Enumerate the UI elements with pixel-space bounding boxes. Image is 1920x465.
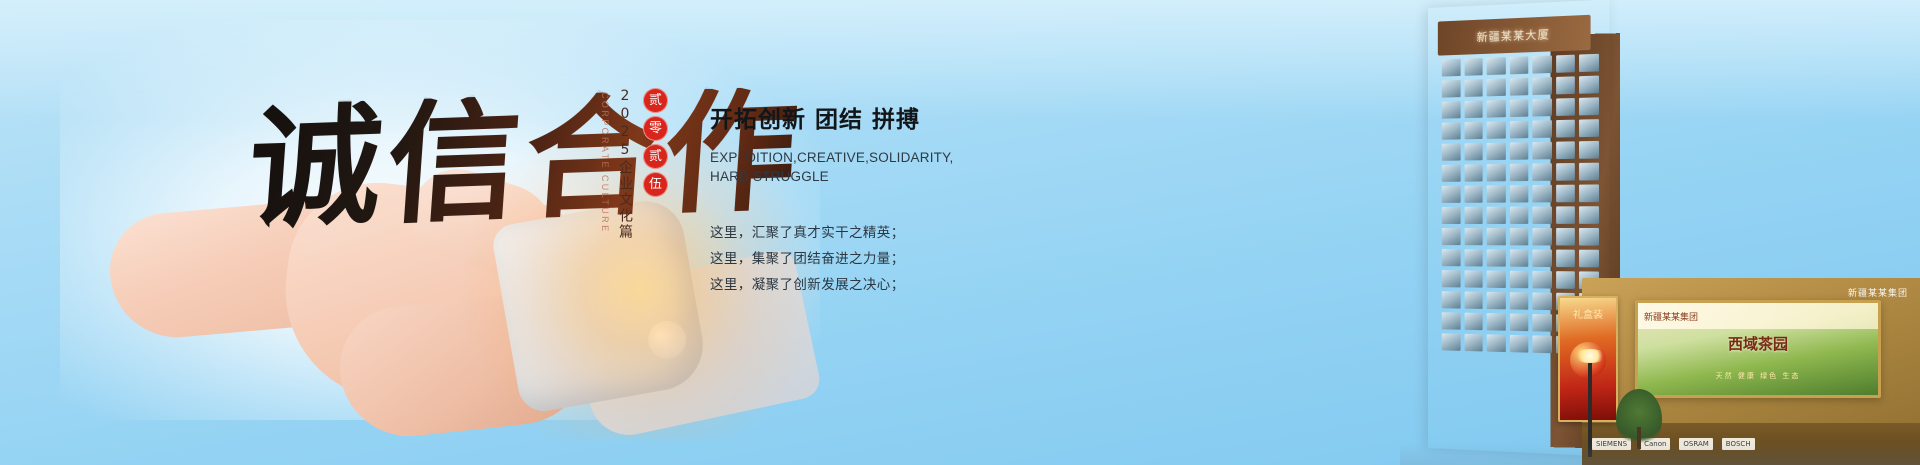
slogan-body: 这里，汇聚了真才实干之精英； 这里，集聚了团结奋进之力量； 这里，凝聚了创新发展… bbox=[710, 220, 1000, 298]
billboard-top-text: 新疆某某集团 bbox=[1638, 303, 1878, 329]
slogan-headline: 开拓创新 团结 拼搏 bbox=[710, 100, 1000, 134]
building-photo: 新疆某某大厦 新疆某某集团 SIEMENS bbox=[1400, 0, 1920, 465]
billboard-sub-text: 天然 健康 绿色 生态 bbox=[1638, 371, 1878, 381]
vertical-side-label: CORPORATE CULTURE 2025企业文化篇 贰 零 贰 伍 bbox=[600, 88, 668, 240]
tower-sign-text: 新疆某某大厦 bbox=[1438, 15, 1591, 56]
billboard-main-text: 西域茶园 bbox=[1638, 333, 1878, 354]
podium-logo-text: 新疆某某集团 bbox=[1848, 286, 1908, 299]
slogan-subline-2: HARD STRUGGLE bbox=[710, 167, 1000, 186]
seal-stack: 贰 零 贰 伍 bbox=[643, 88, 668, 197]
seal-char-3: 贰 bbox=[643, 144, 668, 169]
seal-char-4: 伍 bbox=[643, 172, 668, 197]
vertical-chinese-label: 2025企业文化篇 bbox=[615, 88, 635, 240]
seal-char-2: 零 bbox=[643, 116, 668, 141]
seal-char-1: 贰 bbox=[643, 88, 668, 113]
vertical-english-label: CORPORATE CULTURE bbox=[600, 88, 610, 233]
ground-shadow bbox=[1400, 443, 1920, 465]
slogan-body-line-3: 这里，凝聚了创新发展之决心； bbox=[710, 272, 1000, 298]
led-billboard: 新疆某某集团 西域茶园 天然 健康 绿色 生态 bbox=[1635, 300, 1881, 398]
poster-title: 礼盒装 bbox=[1560, 306, 1616, 321]
slogan-subline-1: EXPLOITION,CREATIVE,SOLIDARITY, bbox=[710, 148, 1000, 167]
slogan-body-line-2: 这里，集聚了团结奋进之力量； bbox=[710, 246, 1000, 272]
slogan-text-block: 开拓创新 团结 拼搏 EXPLOITION,CREATIVE,SOLIDARIT… bbox=[710, 100, 1000, 298]
street-tree bbox=[1616, 389, 1662, 449]
slogan-body-line-1: 这里，汇聚了真才实干之精英； bbox=[710, 220, 1000, 246]
corporate-culture-banner: 诚信合作 CORPORATE CULTURE 2025企业文化篇 贰 零 贰 伍… bbox=[0, 0, 1920, 465]
